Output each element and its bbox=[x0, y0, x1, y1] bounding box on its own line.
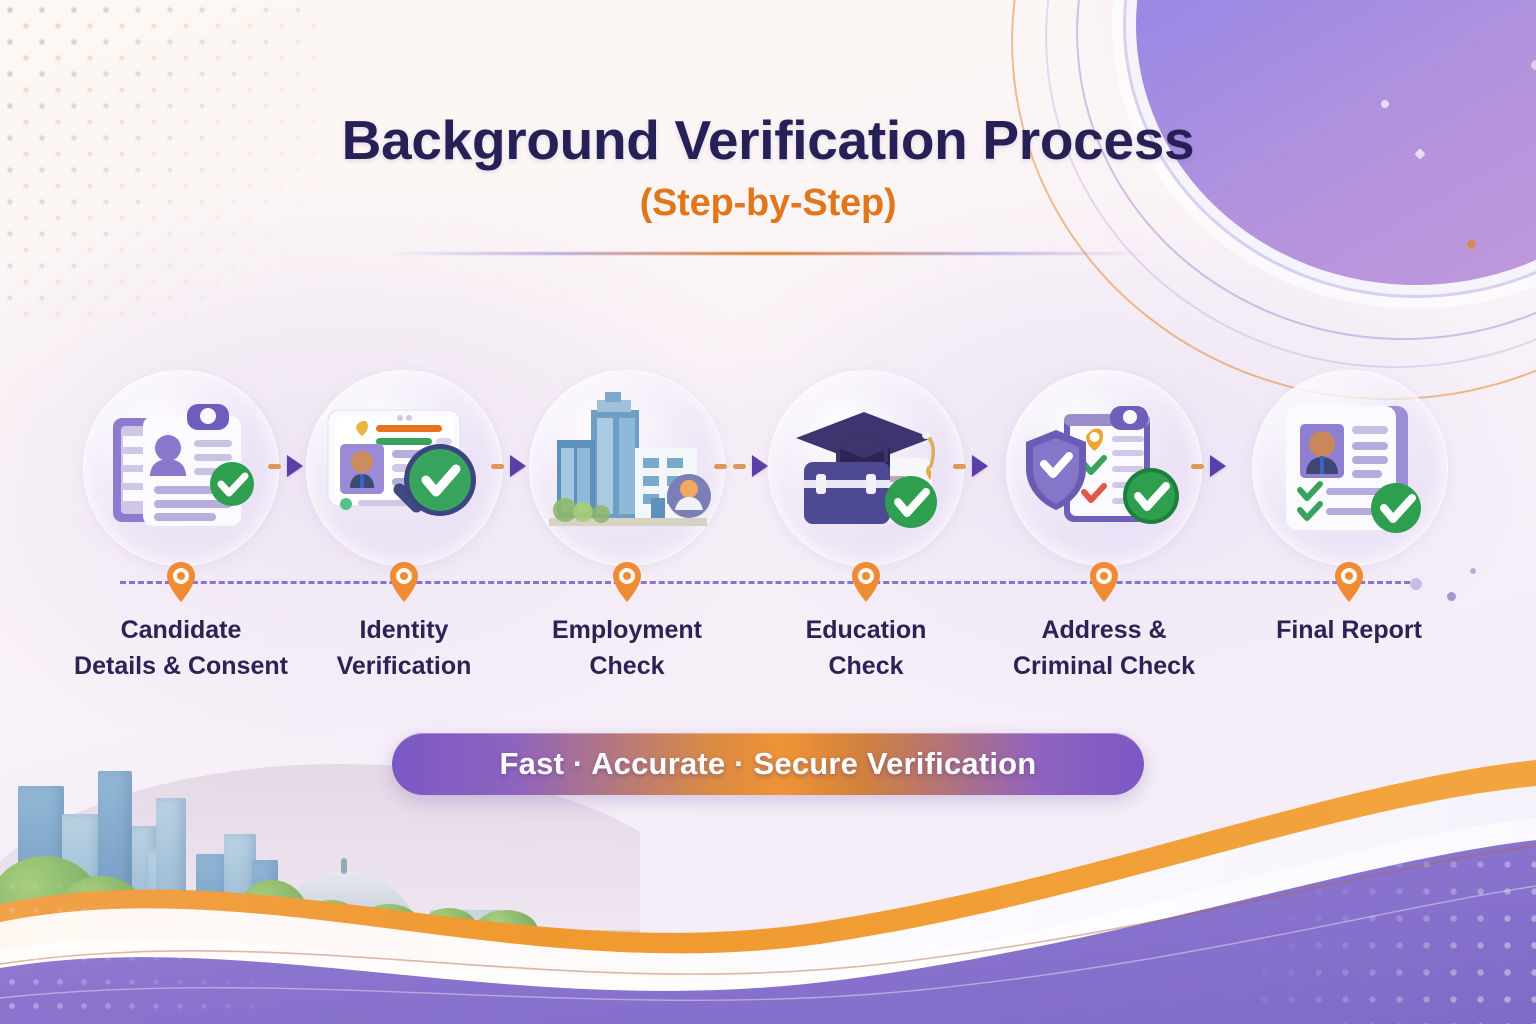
bottom-left-dot-pattern-decor bbox=[0, 874, 260, 1024]
timeline-pin-4[interactable] bbox=[849, 560, 883, 604]
step-label-line1: Identity bbox=[274, 612, 534, 648]
office-building-badge-icon bbox=[539, 392, 715, 542]
step-1-icon-bubble[interactable] bbox=[68, 378, 293, 563]
timeline-pin-2[interactable] bbox=[387, 560, 421, 604]
step-5-icon-bubble[interactable] bbox=[991, 378, 1216, 563]
dash-icon bbox=[733, 464, 746, 469]
triangle-right-icon bbox=[1210, 455, 1226, 477]
triangle-right-icon bbox=[972, 455, 988, 477]
timeline-pin-6[interactable] bbox=[1332, 560, 1366, 604]
step-2-icon-bubble[interactable] bbox=[291, 378, 516, 563]
timeline-end-dot-decor bbox=[1410, 578, 1422, 590]
tagline-text: Fast · Accurate · Secure Verification bbox=[500, 746, 1037, 782]
dash-icon bbox=[491, 464, 504, 469]
timeline-pin-3[interactable] bbox=[610, 560, 644, 604]
step-label-2: Identity Verification bbox=[274, 612, 534, 685]
clipboard-profile-check-icon bbox=[93, 392, 269, 542]
step-label-line1: Education bbox=[736, 612, 996, 648]
step-label-line2: Details & Consent bbox=[51, 648, 311, 684]
dash-icon bbox=[714, 464, 727, 469]
sparkle-dot-icon bbox=[1381, 100, 1389, 108]
report-photo-check-icon bbox=[1262, 392, 1438, 542]
step-label-line2: Criminal Check bbox=[974, 648, 1234, 684]
dash-icon bbox=[1191, 464, 1204, 469]
timeline-pin-5[interactable] bbox=[1087, 560, 1121, 604]
id-card-magnifier-check-icon bbox=[316, 392, 492, 542]
sparkle-dot-icon bbox=[1531, 60, 1536, 70]
shield-clipboard-check-icon bbox=[1016, 392, 1192, 542]
step-label-4: Education Check bbox=[736, 612, 996, 685]
header-divider bbox=[388, 252, 1148, 255]
timeline-pin-1[interactable] bbox=[164, 560, 198, 604]
timeline-dashed-line bbox=[120, 581, 1410, 584]
dash-icon bbox=[953, 464, 966, 469]
step-label-line1: Employment bbox=[497, 612, 757, 648]
step-label-line2: Check bbox=[736, 648, 996, 684]
step-label-line1: Final Report bbox=[1219, 612, 1479, 648]
step-3-icon-bubble[interactable] bbox=[514, 378, 739, 563]
step-label-line2: Verification bbox=[274, 648, 534, 684]
step-labels-row: Candidate Details & Consent Identity Ver… bbox=[0, 612, 1536, 702]
step-6-icon-bubble[interactable] bbox=[1237, 378, 1462, 563]
step-label-6: Final Report bbox=[1219, 612, 1479, 648]
header: Background Verification Process (Step-by… bbox=[0, 112, 1536, 255]
graduation-cap-briefcase-check-icon bbox=[778, 392, 954, 542]
bottom-right-dot-pattern-decor bbox=[1116, 824, 1536, 1024]
tagline-banner[interactable]: Fast · Accurate · Secure Verification bbox=[392, 733, 1144, 795]
step-label-3: Employment Check bbox=[497, 612, 757, 685]
step-label-5: Address & Criminal Check bbox=[974, 612, 1234, 685]
step-label-line1: Candidate bbox=[51, 612, 311, 648]
dash-icon bbox=[268, 464, 281, 469]
page-subtitle: (Step-by-Step) bbox=[0, 182, 1536, 225]
step-4-icon-bubble[interactable] bbox=[753, 378, 978, 563]
page-title: Background Verification Process bbox=[0, 112, 1536, 170]
infographic-canvas: Background Verification Process (Step-by… bbox=[0, 0, 1536, 1024]
timeline-track bbox=[0, 560, 1536, 606]
step-label-line2: Check bbox=[497, 648, 757, 684]
timeline-end-dot-decor bbox=[1447, 592, 1456, 601]
step-label-line1: Address & bbox=[974, 612, 1234, 648]
step-label-1: Candidate Details & Consent bbox=[51, 612, 311, 685]
timeline-end-dot-decor bbox=[1470, 568, 1476, 574]
